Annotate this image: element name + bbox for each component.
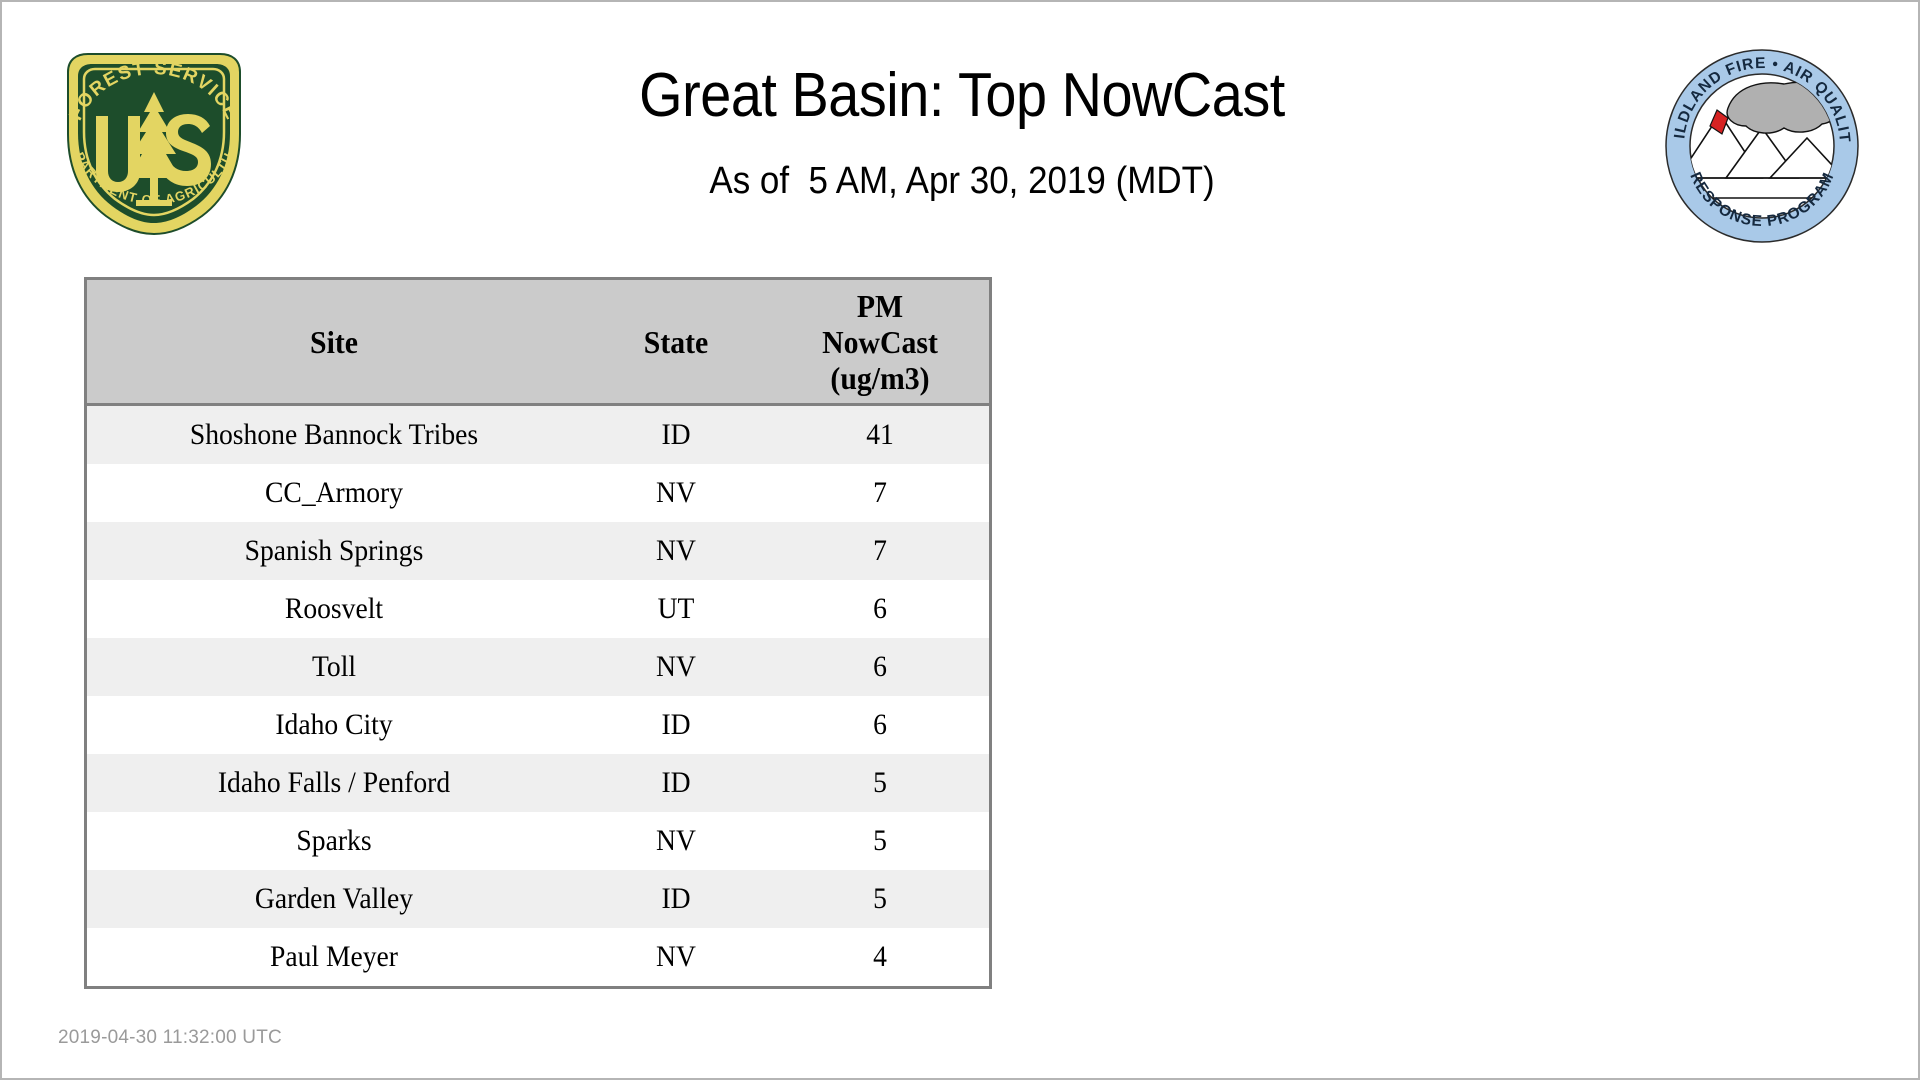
cell-site: Spanish Springs	[107, 522, 561, 580]
cell-state: ID	[589, 754, 764, 812]
column-header-pm-line-2: NowCast	[779, 324, 982, 360]
cell-state: NV	[589, 812, 764, 870]
cell-state: NV	[589, 638, 764, 696]
cell-pm: 4	[780, 928, 981, 986]
cell-pm: 6	[780, 580, 981, 638]
cell-site: Sparks	[107, 812, 561, 870]
nowcast-table-container: Site State PM NowCast (ug/m3) Shoshone B…	[84, 277, 992, 989]
cell-state: ID	[589, 870, 764, 928]
cell-site: Roosvelt	[107, 580, 561, 638]
cell-site: Idaho City	[107, 696, 561, 754]
cell-pm: 6	[780, 638, 981, 696]
cell-pm: 5	[780, 812, 981, 870]
page-title: Great Basin: Top NowCast	[332, 57, 1592, 135]
table-header: Site State PM NowCast (ug/m3)	[87, 280, 989, 405]
cell-site: Garden Valley	[107, 870, 561, 928]
column-header-site: Site	[104, 280, 563, 405]
cell-state: ID	[589, 696, 764, 754]
cell-state: NV	[589, 522, 764, 580]
table-row: Paul Meyer NV 4	[87, 928, 989, 986]
cell-state: UT	[589, 580, 764, 638]
page-subtitle: As of 5 AM, Apr 30, 2019 (MDT)	[318, 157, 1606, 205]
title-block: Great Basin: Top NowCast As of 5 AM, Apr…	[262, 57, 1662, 205]
cell-site: Idaho Falls / Penford	[107, 754, 561, 812]
table-row: Garden Valley ID 5	[87, 870, 989, 928]
cell-site: CC_Armory	[107, 464, 561, 522]
cell-pm: 41	[780, 405, 981, 465]
column-header-pm-nowcast: PM NowCast (ug/m3)	[779, 280, 982, 405]
table-row: CC_Armory NV 7	[87, 464, 989, 522]
forest-service-logo: FOREST SERVICE DEPARTMENT OF AGRICULTURE	[54, 38, 254, 238]
table-row: Spanish Springs NV 7	[87, 522, 989, 580]
cell-pm: 6	[780, 696, 981, 754]
table-row: Sparks NV 5	[87, 812, 989, 870]
cell-site: Paul Meyer	[107, 928, 561, 986]
table-row: Shoshone Bannock Tribes ID 41	[87, 405, 989, 465]
table-header-row: Site State PM NowCast (ug/m3)	[87, 280, 989, 405]
cell-site: Toll	[107, 638, 561, 696]
column-header-pm-line-3: (ug/m3)	[779, 360, 982, 396]
cell-pm: 7	[780, 464, 981, 522]
table-row: Toll NV 6	[87, 638, 989, 696]
table-body: Shoshone Bannock Tribes ID 41 CC_Armory …	[87, 405, 989, 987]
column-header-state: State	[588, 280, 765, 405]
cell-state: NV	[589, 464, 764, 522]
wfaqrp-logo: WILDLAND FIRE • AIR QUALITY RESPONSE PRO…	[1662, 46, 1862, 246]
table-row: Idaho City ID 6	[87, 696, 989, 754]
cell-pm: 5	[780, 754, 981, 812]
footer-timestamp: 2019-04-30 11:32:00 UTC	[58, 1027, 282, 1049]
column-header-pm-line-1: PM	[779, 288, 982, 324]
table-row: Idaho Falls / Penford ID 5	[87, 754, 989, 812]
table-row: Roosvelt UT 6	[87, 580, 989, 638]
cell-site: Shoshone Bannock Tribes	[107, 405, 561, 465]
cell-pm: 7	[780, 522, 981, 580]
nowcast-table: Site State PM NowCast (ug/m3) Shoshone B…	[87, 280, 989, 986]
cell-pm: 5	[780, 870, 981, 928]
cell-state: NV	[589, 928, 764, 986]
cell-state: ID	[589, 405, 764, 465]
